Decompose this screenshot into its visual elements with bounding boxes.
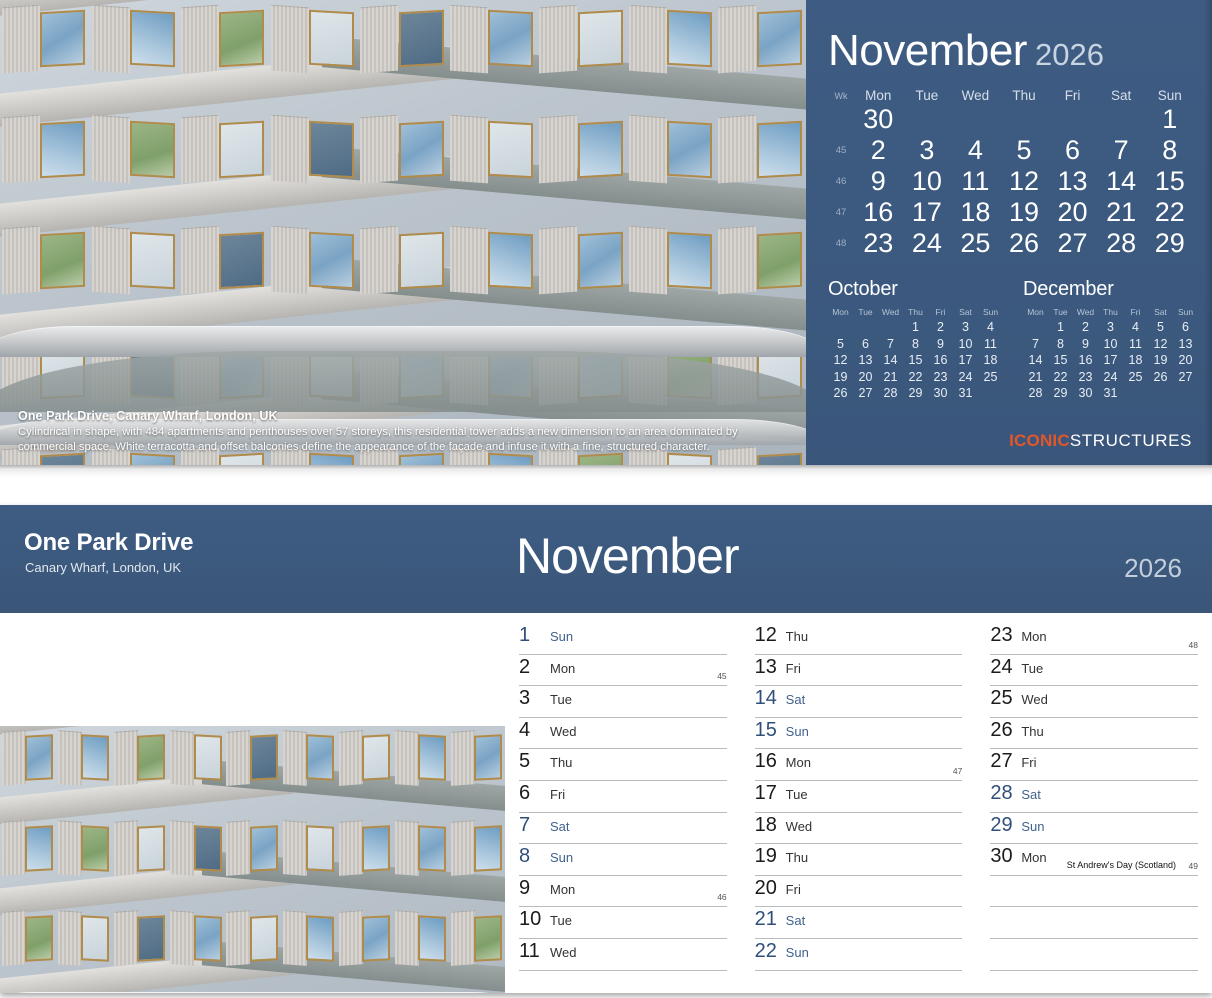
day-name: Wed xyxy=(786,816,813,838)
facade-element xyxy=(40,231,85,289)
top-year: 2026 xyxy=(1035,32,1104,78)
mini-prev-day: 26 xyxy=(828,385,853,402)
facade-element xyxy=(58,911,82,967)
mini-next-day: 5 xyxy=(1148,319,1173,336)
facade-element xyxy=(539,115,577,184)
holiday-note: St Andrew's Day (Scotland) xyxy=(1067,860,1176,870)
brand-structures: STRUCTURES xyxy=(1070,431,1192,450)
mini-prev-day: 25 xyxy=(978,369,1003,386)
facade-element xyxy=(306,825,334,872)
mini-next-day-empty: · xyxy=(1148,385,1173,402)
day-name: Sun xyxy=(550,847,573,869)
mini-prev-day-empty: · xyxy=(878,319,903,336)
facade-element xyxy=(137,825,165,872)
mini-next-day: 2 xyxy=(1073,319,1098,336)
mini-next-day-empty: · xyxy=(1123,385,1148,402)
day-row[interactable]: 27Fri xyxy=(990,749,1198,781)
mini-prev-day: 7 xyxy=(878,336,903,353)
mini-prev-day: 3 xyxy=(953,319,978,336)
day-name: Thu xyxy=(550,752,572,774)
top-day-cell: 25 xyxy=(951,228,1000,259)
day-number: 18 xyxy=(755,813,781,837)
day-row[interactable]: 20Fri xyxy=(755,876,963,908)
day-row[interactable]: 1Sun xyxy=(519,623,727,655)
mini-prev-day: 18 xyxy=(978,352,1003,369)
day-row[interactable]: 14Sat xyxy=(755,686,963,718)
day-name: Tue xyxy=(550,689,572,711)
mini-prev-day-empty: · xyxy=(853,319,878,336)
top-day-cell: 16 xyxy=(854,197,903,228)
day-number: 16 xyxy=(755,749,781,773)
facade-element xyxy=(629,226,667,295)
top-month-name: November xyxy=(828,28,1027,74)
day-name: Mon xyxy=(550,658,575,680)
facade-element xyxy=(283,911,307,967)
facade-element xyxy=(271,115,309,184)
mini-next-day-empty: · xyxy=(1173,385,1198,402)
facade-element xyxy=(114,730,138,786)
day-row[interactable]: 9Mon46 xyxy=(519,876,727,908)
mini-prev-day: 16 xyxy=(928,352,953,369)
day-name: Mon xyxy=(550,879,575,901)
mini-next-day: 13 xyxy=(1173,336,1198,353)
day-name: Tue xyxy=(1021,658,1043,680)
mini-next-dow: Mon xyxy=(1023,306,1048,319)
facade-element xyxy=(399,231,444,289)
mini-prev-dow: Sun xyxy=(978,306,1003,319)
top-day-cell: 30 xyxy=(854,104,903,135)
top-wk-label: Wk xyxy=(828,91,854,101)
mini-next-day: 3 xyxy=(1098,319,1123,336)
facade-element xyxy=(339,911,363,967)
mini-prev-day-empty: · xyxy=(828,319,853,336)
day-name: Fri xyxy=(1021,752,1036,774)
facade-element xyxy=(2,226,40,295)
day-row[interactable]: 24Tue xyxy=(990,655,1198,687)
facade-element xyxy=(226,911,250,967)
mini-prev-day: 31 xyxy=(953,385,978,402)
day-number: 6 xyxy=(519,781,545,805)
facade-element xyxy=(629,115,667,184)
mini-prev-day: 20 xyxy=(853,369,878,386)
mini-next-day: 25 xyxy=(1123,369,1148,386)
facade-element xyxy=(418,915,446,962)
facade-element xyxy=(114,820,138,876)
facade-element xyxy=(360,115,398,184)
top-day-cell: 13 xyxy=(1048,166,1097,197)
top-day-cell: 21 xyxy=(1097,197,1146,228)
top-day-cell: 1 xyxy=(1145,104,1194,135)
facade-element xyxy=(181,115,219,184)
day-row[interactable]: 17Tue xyxy=(755,781,963,813)
facade-element xyxy=(395,820,419,876)
facade-element xyxy=(194,734,222,781)
facade-element xyxy=(0,992,505,993)
mini-next-day: 12 xyxy=(1148,336,1173,353)
top-day-cell: 5 xyxy=(1000,135,1049,166)
caption-body: Cylindrical in shape, with 484 apartment… xyxy=(18,425,793,456)
day-name: Mon xyxy=(1021,626,1046,648)
day-row[interactable]: 3Tue xyxy=(519,686,727,718)
facade-element xyxy=(2,911,26,967)
top-month-block: November2026 WkMonTueWedThuFriSatSun 30·… xyxy=(806,0,1212,465)
facade-element xyxy=(181,226,219,295)
day-row[interactable]: 26Thu xyxy=(990,718,1198,750)
planner-month-name: November xyxy=(516,529,739,583)
mini-prev-dow: Thu xyxy=(903,306,928,319)
facade-element xyxy=(578,10,623,68)
top-week-number: 46 xyxy=(828,176,854,187)
mini-next-day: 10 xyxy=(1098,336,1123,353)
mini-next-day: 24 xyxy=(1098,369,1123,386)
top-day-cell: 8 xyxy=(1145,135,1194,166)
top-dow-thu: Thu xyxy=(1000,88,1049,103)
facade-element xyxy=(25,825,53,872)
facade-element xyxy=(219,10,264,68)
facade-element xyxy=(418,825,446,872)
mini-next-day: 28 xyxy=(1023,385,1048,402)
bottom-planner-card: One Park Drive Canary Wharf, London, UK … xyxy=(0,505,1212,993)
mini-prev-day: 13 xyxy=(853,352,878,369)
facade-element xyxy=(40,10,85,68)
day-name: Sun xyxy=(550,626,573,648)
facade-element xyxy=(757,121,802,179)
mini-next-day: 7 xyxy=(1023,336,1048,353)
facade-element xyxy=(718,226,756,295)
facade-element xyxy=(718,4,756,73)
day-name: Thu xyxy=(786,626,808,648)
top-dow-sat: Sat xyxy=(1097,88,1146,103)
facade-element xyxy=(283,730,307,786)
top-day-cell: 9 xyxy=(854,166,903,197)
top-day-cell: 24 xyxy=(903,228,952,259)
day-number: 11 xyxy=(519,939,545,963)
day-name: Fri xyxy=(786,879,801,901)
week-number: 49 xyxy=(1189,861,1198,871)
mini-prev-day: 8 xyxy=(903,336,928,353)
top-day-empty: · xyxy=(903,104,952,135)
top-day-cell: 12 xyxy=(1000,166,1049,197)
facade-element xyxy=(395,911,419,967)
mini-next-day: 18 xyxy=(1123,352,1148,369)
top-dow-sun: Sun xyxy=(1145,88,1194,103)
day-row[interactable]: 12Thu xyxy=(755,623,963,655)
facade-element xyxy=(114,911,138,967)
day-number: 26 xyxy=(990,718,1016,742)
top-dow-wed: Wed xyxy=(951,88,1000,103)
mini-prev-day: 15 xyxy=(903,352,928,369)
mini-prev-day: 27 xyxy=(853,385,878,402)
mini-next-day: 26 xyxy=(1148,369,1173,386)
day-row[interactable]: 10Tue xyxy=(519,907,727,939)
facade-element xyxy=(309,121,354,179)
mini-prev-day: 29 xyxy=(903,385,928,402)
caption-title: One Park Drive, Canary Wharf, London, UK xyxy=(18,409,793,423)
day-name: Tue xyxy=(786,784,808,806)
day-name: Fri xyxy=(550,784,565,806)
brand-iconic: ICONIC xyxy=(1009,431,1070,450)
facade-element xyxy=(339,820,363,876)
day-column-1: 1Sun2Mon453Tue4Wed5Thu6Fri7Sat8Sun9Mon46… xyxy=(505,623,741,993)
top-day-cell: 7 xyxy=(1097,135,1146,166)
mini-next-day: 22 xyxy=(1048,369,1073,386)
top-day-cell: 27 xyxy=(1048,228,1097,259)
mini-prev-day: 30 xyxy=(928,385,953,402)
mini-next-day: 27 xyxy=(1173,369,1198,386)
day-row[interactable]: 30MonSt Andrew's Day (Scotland)49 xyxy=(990,844,1198,876)
day-row[interactable]: 6Fri xyxy=(519,781,727,813)
top-day-cell: 3 xyxy=(903,135,952,166)
facade-element xyxy=(450,115,488,184)
mini-prev-day: 10 xyxy=(953,336,978,353)
week-number: 46 xyxy=(717,892,726,902)
mini-prev-dow: Wed xyxy=(878,306,903,319)
day-number: 17 xyxy=(755,781,781,805)
day-row[interactable]: 11Wed xyxy=(519,939,727,971)
day-number: 2 xyxy=(519,655,545,679)
day-row[interactable]: 13Fri xyxy=(755,655,963,687)
mini-prev-day: 17 xyxy=(953,352,978,369)
day-number: 27 xyxy=(990,749,1016,773)
mini-prev-dow: Sat xyxy=(953,306,978,319)
top-month-heading: November2026 xyxy=(828,28,1104,78)
day-number: 20 xyxy=(755,876,781,900)
facade-element xyxy=(360,226,398,295)
building-photo-bottom xyxy=(0,726,505,993)
day-name: Wed xyxy=(1021,689,1048,711)
planner-year: 2026 xyxy=(1124,553,1182,584)
day-number: 30 xyxy=(990,844,1016,868)
top-day-empty: · xyxy=(951,104,1000,135)
facade-element xyxy=(130,10,175,68)
day-name: Sun xyxy=(786,721,809,743)
day-number: 7 xyxy=(519,813,545,837)
mini-prev-day: 12 xyxy=(828,352,853,369)
facade-element xyxy=(757,10,802,68)
facade-element xyxy=(667,121,712,179)
day-row-empty[interactable] xyxy=(990,939,1198,971)
mini-next-dow: Sat xyxy=(1148,306,1173,319)
day-row[interactable]: 18Wed xyxy=(755,813,963,845)
day-row[interactable]: 15Sun xyxy=(755,718,963,750)
top-day-cell: 20 xyxy=(1048,197,1097,228)
facade-element xyxy=(474,734,502,781)
day-row[interactable]: 16Mon47 xyxy=(755,749,963,781)
facade-element xyxy=(2,115,40,184)
day-number: 23 xyxy=(990,623,1016,647)
day-number: 12 xyxy=(755,623,781,647)
facade-artwork xyxy=(0,0,806,465)
day-row[interactable]: 21Sat xyxy=(755,907,963,939)
mini-prev-day: 22 xyxy=(903,369,928,386)
top-day-cell: 26 xyxy=(1000,228,1049,259)
facade-element xyxy=(271,4,309,73)
day-row[interactable]: 22Sun xyxy=(755,939,963,971)
top-day-cell: 19 xyxy=(1000,197,1049,228)
mini-next-day: 16 xyxy=(1073,352,1098,369)
facade-element xyxy=(137,915,165,962)
facade-element xyxy=(226,730,250,786)
day-row[interactable]: 19Thu xyxy=(755,844,963,876)
facade-element xyxy=(451,911,475,967)
facade-element xyxy=(219,231,264,289)
day-row[interactable]: 23Mon48 xyxy=(990,623,1198,655)
day-row[interactable]: 5Thu xyxy=(519,749,727,781)
top-calendar-card: One Park Drive, Canary Wharf, London, UK… xyxy=(0,0,1212,470)
day-row[interactable]: 7Sat xyxy=(519,813,727,845)
top-day-empty: · xyxy=(1000,104,1049,135)
facade-element xyxy=(81,734,109,781)
mini-prev-day-empty: · xyxy=(978,385,1003,402)
facade-element xyxy=(395,730,419,786)
day-number: 1 xyxy=(519,623,545,647)
facade-element xyxy=(181,4,219,73)
week-number: 45 xyxy=(717,671,726,681)
day-name: Sat xyxy=(550,816,570,838)
facade-element xyxy=(250,915,278,962)
facade-element xyxy=(92,115,130,184)
mini-next-day-empty: · xyxy=(1023,319,1048,336)
mini-next-dow: Thu xyxy=(1098,306,1123,319)
building-name: One Park Drive xyxy=(24,529,193,557)
photo-caption: One Park Drive, Canary Wharf, London, UK… xyxy=(18,409,793,456)
top-day-cell: 2 xyxy=(854,135,903,166)
facade-element xyxy=(451,820,475,876)
day-number: 15 xyxy=(755,718,781,742)
day-number: 14 xyxy=(755,686,781,710)
mini-next-day: 19 xyxy=(1148,352,1173,369)
facade-element xyxy=(2,730,26,786)
day-row[interactable]: 28Sat xyxy=(990,781,1198,813)
mini-prev-day: 14 xyxy=(878,352,903,369)
top-day-cell: 28 xyxy=(1097,228,1146,259)
day-number: 4 xyxy=(519,718,545,742)
top-day-cell: 11 xyxy=(951,166,1000,197)
day-name: Wed xyxy=(550,942,577,964)
day-number: 5 xyxy=(519,749,545,773)
facade-element xyxy=(40,121,85,179)
day-row-empty[interactable] xyxy=(990,907,1198,939)
mini-prev-day: 6 xyxy=(853,336,878,353)
day-number: 13 xyxy=(755,655,781,679)
facade-element xyxy=(170,730,194,786)
facade-element xyxy=(81,825,109,872)
day-row[interactable]: 25Wed xyxy=(990,686,1198,718)
facade-element xyxy=(309,231,354,289)
day-name: Wed xyxy=(550,721,577,743)
day-list-columns: 1Sun2Mon453Tue4Wed5Thu6Fri7Sat8Sun9Mon46… xyxy=(505,613,1212,993)
facade-element xyxy=(360,4,398,73)
day-number: 29 xyxy=(990,813,1016,837)
day-number: 19 xyxy=(755,844,781,868)
facade-element xyxy=(309,10,354,68)
planner-body: 1Sun2Mon453Tue4Wed5Thu6Fri7Sat8Sun9Mon46… xyxy=(0,613,1212,993)
mini-month-october: October MonTueWedThuFriSatSun···12345678… xyxy=(828,278,1003,402)
top-dow-tue: Tue xyxy=(903,88,952,103)
building-photo-top: One Park Drive, Canary Wharf, London, UK… xyxy=(0,0,806,465)
facade-element xyxy=(450,226,488,295)
day-row-empty[interactable] xyxy=(990,876,1198,908)
mini-prev-title: October xyxy=(828,278,1003,301)
mini-next-day: 9 xyxy=(1073,336,1098,353)
facade-element xyxy=(474,825,502,872)
facade-element xyxy=(450,4,488,73)
day-column-2: 12Thu13Fri14Sat15Sun16Mon4717Tue18Wed19T… xyxy=(741,623,977,993)
facade-element xyxy=(306,734,334,781)
mini-prev-dow: Tue xyxy=(853,306,878,319)
mini-next-day: 29 xyxy=(1048,385,1073,402)
mini-next-dow: Wed xyxy=(1073,306,1098,319)
facade-element xyxy=(362,915,390,962)
facade-element xyxy=(362,825,390,872)
day-number: 9 xyxy=(519,876,545,900)
mini-next-day: 31 xyxy=(1098,385,1123,402)
week-number: 47 xyxy=(953,766,962,776)
mini-next-dow: Tue xyxy=(1048,306,1073,319)
mini-next-day: 17 xyxy=(1098,352,1123,369)
day-row[interactable]: 2Mon45 xyxy=(519,655,727,687)
mini-month-december: December MonTueWedThuFriSatSun·123456789… xyxy=(1023,278,1198,402)
top-day-cell: 6 xyxy=(1048,135,1097,166)
facade-element xyxy=(451,730,475,786)
day-name: Sat xyxy=(786,910,806,932)
facade-element xyxy=(170,820,194,876)
top-dow-mon: Mon xyxy=(854,88,903,103)
day-row[interactable]: 4Wed xyxy=(519,718,727,750)
facade-element xyxy=(250,734,278,781)
mini-prev-day: 2 xyxy=(928,319,953,336)
facade-element xyxy=(137,734,165,781)
planner-header: One Park Drive Canary Wharf, London, UK … xyxy=(0,505,1212,613)
day-row[interactable]: 8Sun xyxy=(519,844,727,876)
mini-prev-dow: Fri xyxy=(928,306,953,319)
mini-next-day: 11 xyxy=(1123,336,1148,353)
facade-element xyxy=(92,4,130,73)
mini-next-day: 30 xyxy=(1073,385,1098,402)
day-name: Tue xyxy=(550,910,572,932)
facade-element xyxy=(488,231,533,289)
day-name: Fri xyxy=(786,658,801,680)
day-number: 28 xyxy=(990,781,1016,805)
brand-logo: ICONICSTRUCTURES xyxy=(1009,431,1192,451)
mini-next-day: 14 xyxy=(1023,352,1048,369)
calendar-page: One Park Drive, Canary Wharf, London, UK… xyxy=(0,0,1212,998)
day-number: 24 xyxy=(990,655,1016,679)
day-number: 21 xyxy=(755,907,781,931)
mini-next-day: 23 xyxy=(1073,369,1098,386)
day-row[interactable]: 29Sun xyxy=(990,813,1198,845)
facade-element xyxy=(2,820,26,876)
top-month-grid: 30·····145234567846910111213141547161718… xyxy=(828,104,1194,259)
facade-element xyxy=(718,115,756,184)
mini-next-day: 6 xyxy=(1173,319,1198,336)
card-shadow xyxy=(0,465,1212,477)
top-week-number: 47 xyxy=(828,207,854,218)
top-dow-header: WkMonTueWedThuFriSatSun xyxy=(828,88,1194,103)
top-day-cell: 29 xyxy=(1145,228,1194,259)
top-day-cell: 10 xyxy=(903,166,952,197)
day-number: 3 xyxy=(519,686,545,710)
mini-next-day: 20 xyxy=(1173,352,1198,369)
mini-next-dow: Fri xyxy=(1123,306,1148,319)
mini-next-day: 1 xyxy=(1048,319,1073,336)
facade-element xyxy=(362,734,390,781)
facade-element xyxy=(757,231,802,289)
day-name: Sat xyxy=(786,689,806,711)
facade-element xyxy=(81,915,109,962)
mini-next-dow: Sun xyxy=(1173,306,1198,319)
mini-prev-day: 11 xyxy=(978,336,1003,353)
